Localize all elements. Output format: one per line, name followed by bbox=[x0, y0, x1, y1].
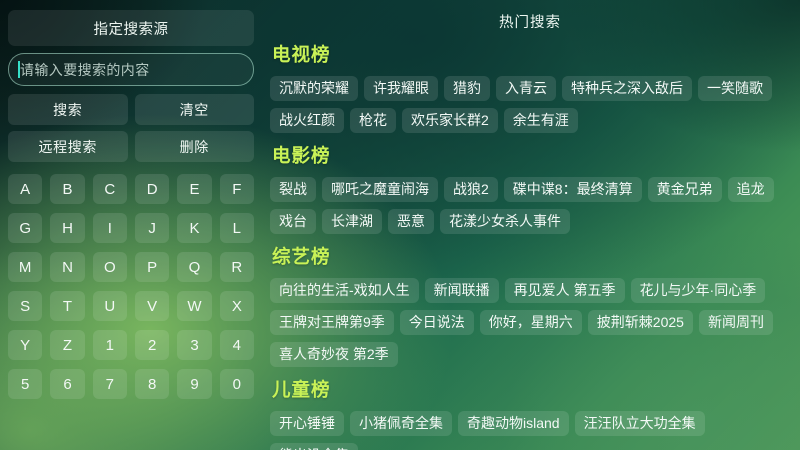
hot-search-title: 热门搜索 bbox=[266, 0, 794, 32]
key-d[interactable]: D bbox=[135, 174, 169, 204]
key-y[interactable]: Y bbox=[8, 330, 42, 360]
search-button-label: 搜索 bbox=[53, 100, 82, 120]
ranking-section: 综艺榜向往的生活-戏如人生新闻联播再见爱人 第五季花儿与少年·同心季王牌对王牌第… bbox=[266, 243, 794, 367]
clear-button-label: 清空 bbox=[180, 100, 209, 120]
search-keyword-chip[interactable]: 枪花 bbox=[350, 108, 396, 133]
search-keyword-chip[interactable]: 喜人奇妙夜 第2季 bbox=[270, 342, 398, 367]
hot-search-panel: 热门搜索 电视榜沉默的荣耀许我耀眼猎豹入青云特种兵之深入敌后一笑随歌战火红颜枪花… bbox=[262, 0, 800, 450]
key-9[interactable]: 9 bbox=[177, 369, 211, 399]
key-5[interactable]: 5 bbox=[8, 369, 42, 399]
search-keyword-chip[interactable]: 新闻周刊 bbox=[699, 310, 773, 335]
search-keyword-chip[interactable]: 长津湖 bbox=[322, 209, 382, 234]
key-0[interactable]: 0 bbox=[220, 369, 254, 399]
search-keyword-chip[interactable]: 熊出没全集 bbox=[270, 443, 358, 450]
key-m[interactable]: M bbox=[8, 252, 42, 282]
delete-button[interactable]: 删除 bbox=[135, 131, 255, 162]
key-g[interactable]: G bbox=[8, 213, 42, 243]
key-8[interactable]: 8 bbox=[135, 369, 169, 399]
key-i[interactable]: I bbox=[93, 213, 127, 243]
search-keyword-chip[interactable]: 开心锤锤 bbox=[270, 411, 344, 436]
action-button-grid: 搜索 清空 远程搜索 删除 bbox=[8, 94, 254, 162]
search-keyword-chip[interactable]: 黄金兄弟 bbox=[648, 177, 722, 202]
key-l[interactable]: L bbox=[220, 213, 254, 243]
virtual-keyboard: ABCDEFGHIJKLMNOPQRSTUVWXYZ1234567890 bbox=[8, 174, 254, 399]
delete-button-label: 删除 bbox=[180, 137, 209, 157]
key-k[interactable]: K bbox=[177, 213, 211, 243]
key-v[interactable]: V bbox=[135, 291, 169, 321]
search-keyword-chip[interactable]: 向往的生活-戏如人生 bbox=[270, 278, 419, 303]
search-keyword-chip[interactable]: 王牌对王牌第9季 bbox=[270, 310, 394, 335]
clear-button[interactable]: 清空 bbox=[135, 94, 255, 125]
search-panel: 指定搜索源 请输入要搜索的内容 搜索 清空 远程搜索 删除 ABCDEFGHIJ… bbox=[0, 0, 262, 450]
key-u[interactable]: U bbox=[93, 291, 127, 321]
search-keyword-chip[interactable]: 裂战 bbox=[270, 177, 316, 202]
search-keyword-chip[interactable]: 沉默的荣耀 bbox=[270, 76, 358, 101]
remote-search-button[interactable]: 远程搜索 bbox=[8, 131, 128, 162]
section-title: 电视榜 bbox=[266, 41, 794, 67]
search-keyword-chip[interactable]: 花儿与少年·同心季 bbox=[631, 278, 766, 303]
chip-list: 向往的生活-戏如人生新闻联播再见爱人 第五季花儿与少年·同心季王牌对王牌第9季今… bbox=[266, 278, 794, 367]
search-keyword-chip[interactable]: 余生有涯 bbox=[504, 108, 578, 133]
search-keyword-chip[interactable]: 你好，星期六 bbox=[480, 310, 582, 335]
key-c[interactable]: C bbox=[93, 174, 127, 204]
key-4[interactable]: 4 bbox=[220, 330, 254, 360]
search-keyword-chip[interactable]: 许我耀眼 bbox=[364, 76, 438, 101]
search-keyword-chip[interactable]: 欢乐家长群2 bbox=[402, 108, 498, 133]
search-keyword-chip[interactable]: 小猪佩奇全集 bbox=[350, 411, 452, 436]
key-p[interactable]: P bbox=[135, 252, 169, 282]
key-6[interactable]: 6 bbox=[50, 369, 84, 399]
ranking-section: 电影榜裂战哪吒之魔童闹海战狼2碟中谍8：最终清算黄金兄弟追龙戏台长津湖恶意花漾少… bbox=[266, 142, 794, 234]
chip-list: 开心锤锤小猪佩奇全集奇趣动物island汪汪队立大功全集熊出没全集 bbox=[266, 411, 794, 450]
search-keyword-chip[interactable]: 恶意 bbox=[388, 209, 434, 234]
specify-search-source-label: 指定搜索源 bbox=[94, 18, 169, 39]
search-keyword-chip[interactable]: 披荆斩棘2025 bbox=[588, 310, 693, 335]
search-keyword-chip[interactable]: 猎豹 bbox=[444, 76, 490, 101]
app-root: 指定搜索源 请输入要搜索的内容 搜索 清空 远程搜索 删除 ABCDEFGHIJ… bbox=[0, 0, 800, 450]
search-input[interactable]: 请输入要搜索的内容 bbox=[8, 53, 254, 86]
chip-list: 沉默的荣耀许我耀眼猎豹入青云特种兵之深入敌后一笑随歌战火红颜枪花欢乐家长群2余生… bbox=[266, 76, 794, 133]
key-q[interactable]: Q bbox=[177, 252, 211, 282]
ranking-sections: 电视榜沉默的荣耀许我耀眼猎豹入青云特种兵之深入敌后一笑随歌战火红颜枪花欢乐家长群… bbox=[266, 41, 794, 450]
key-b[interactable]: B bbox=[50, 174, 84, 204]
search-keyword-chip[interactable]: 汪汪队立大功全集 bbox=[575, 411, 705, 436]
key-z[interactable]: Z bbox=[50, 330, 84, 360]
ranking-section: 儿童榜开心锤锤小猪佩奇全集奇趣动物island汪汪队立大功全集熊出没全集 bbox=[266, 376, 794, 450]
chip-list: 裂战哪吒之魔童闹海战狼2碟中谍8：最终清算黄金兄弟追龙戏台长津湖恶意花漾少女杀人… bbox=[266, 177, 794, 234]
key-n[interactable]: N bbox=[50, 252, 84, 282]
key-j[interactable]: J bbox=[135, 213, 169, 243]
key-w[interactable]: W bbox=[177, 291, 211, 321]
search-keyword-chip[interactable]: 战狼2 bbox=[444, 177, 498, 202]
remote-search-button-label: 远程搜索 bbox=[39, 137, 97, 157]
search-button[interactable]: 搜索 bbox=[8, 94, 128, 125]
search-keyword-chip[interactable]: 入青云 bbox=[496, 76, 556, 101]
key-a[interactable]: A bbox=[8, 174, 42, 204]
section-title: 综艺榜 bbox=[266, 243, 794, 269]
search-keyword-chip[interactable]: 戏台 bbox=[270, 209, 316, 234]
search-keyword-chip[interactable]: 新闻联播 bbox=[425, 278, 499, 303]
key-7[interactable]: 7 bbox=[93, 369, 127, 399]
key-r[interactable]: R bbox=[220, 252, 254, 282]
key-2[interactable]: 2 bbox=[135, 330, 169, 360]
search-keyword-chip[interactable]: 再见爱人 第五季 bbox=[505, 278, 625, 303]
key-s[interactable]: S bbox=[8, 291, 42, 321]
search-keyword-chip[interactable]: 追龙 bbox=[728, 177, 774, 202]
key-x[interactable]: X bbox=[220, 291, 254, 321]
search-keyword-chip[interactable]: 花漾少女杀人事件 bbox=[440, 209, 570, 234]
key-1[interactable]: 1 bbox=[93, 330, 127, 360]
search-keyword-chip[interactable]: 哪吒之魔童闹海 bbox=[322, 177, 438, 202]
ranking-section: 电视榜沉默的荣耀许我耀眼猎豹入青云特种兵之深入敌后一笑随歌战火红颜枪花欢乐家长群… bbox=[266, 41, 794, 133]
section-title: 电影榜 bbox=[266, 142, 794, 168]
search-keyword-chip[interactable]: 战火红颜 bbox=[270, 108, 344, 133]
search-input-placeholder: 请输入要搜索的内容 bbox=[20, 60, 150, 80]
search-keyword-chip[interactable]: 今日说法 bbox=[400, 310, 474, 335]
search-keyword-chip[interactable]: 一笑随歌 bbox=[698, 76, 772, 101]
search-keyword-chip[interactable]: 特种兵之深入敌后 bbox=[562, 76, 692, 101]
key-o[interactable]: O bbox=[93, 252, 127, 282]
search-keyword-chip[interactable]: 碟中谍8：最终清算 bbox=[504, 177, 642, 202]
section-title: 儿童榜 bbox=[266, 376, 794, 402]
key-3[interactable]: 3 bbox=[177, 330, 211, 360]
key-t[interactable]: T bbox=[50, 291, 84, 321]
key-h[interactable]: H bbox=[50, 213, 84, 243]
key-e[interactable]: E bbox=[177, 174, 211, 204]
key-f[interactable]: F bbox=[220, 174, 254, 204]
specify-search-source-button[interactable]: 指定搜索源 bbox=[8, 10, 254, 46]
search-keyword-chip[interactable]: 奇趣动物island bbox=[458, 411, 569, 436]
